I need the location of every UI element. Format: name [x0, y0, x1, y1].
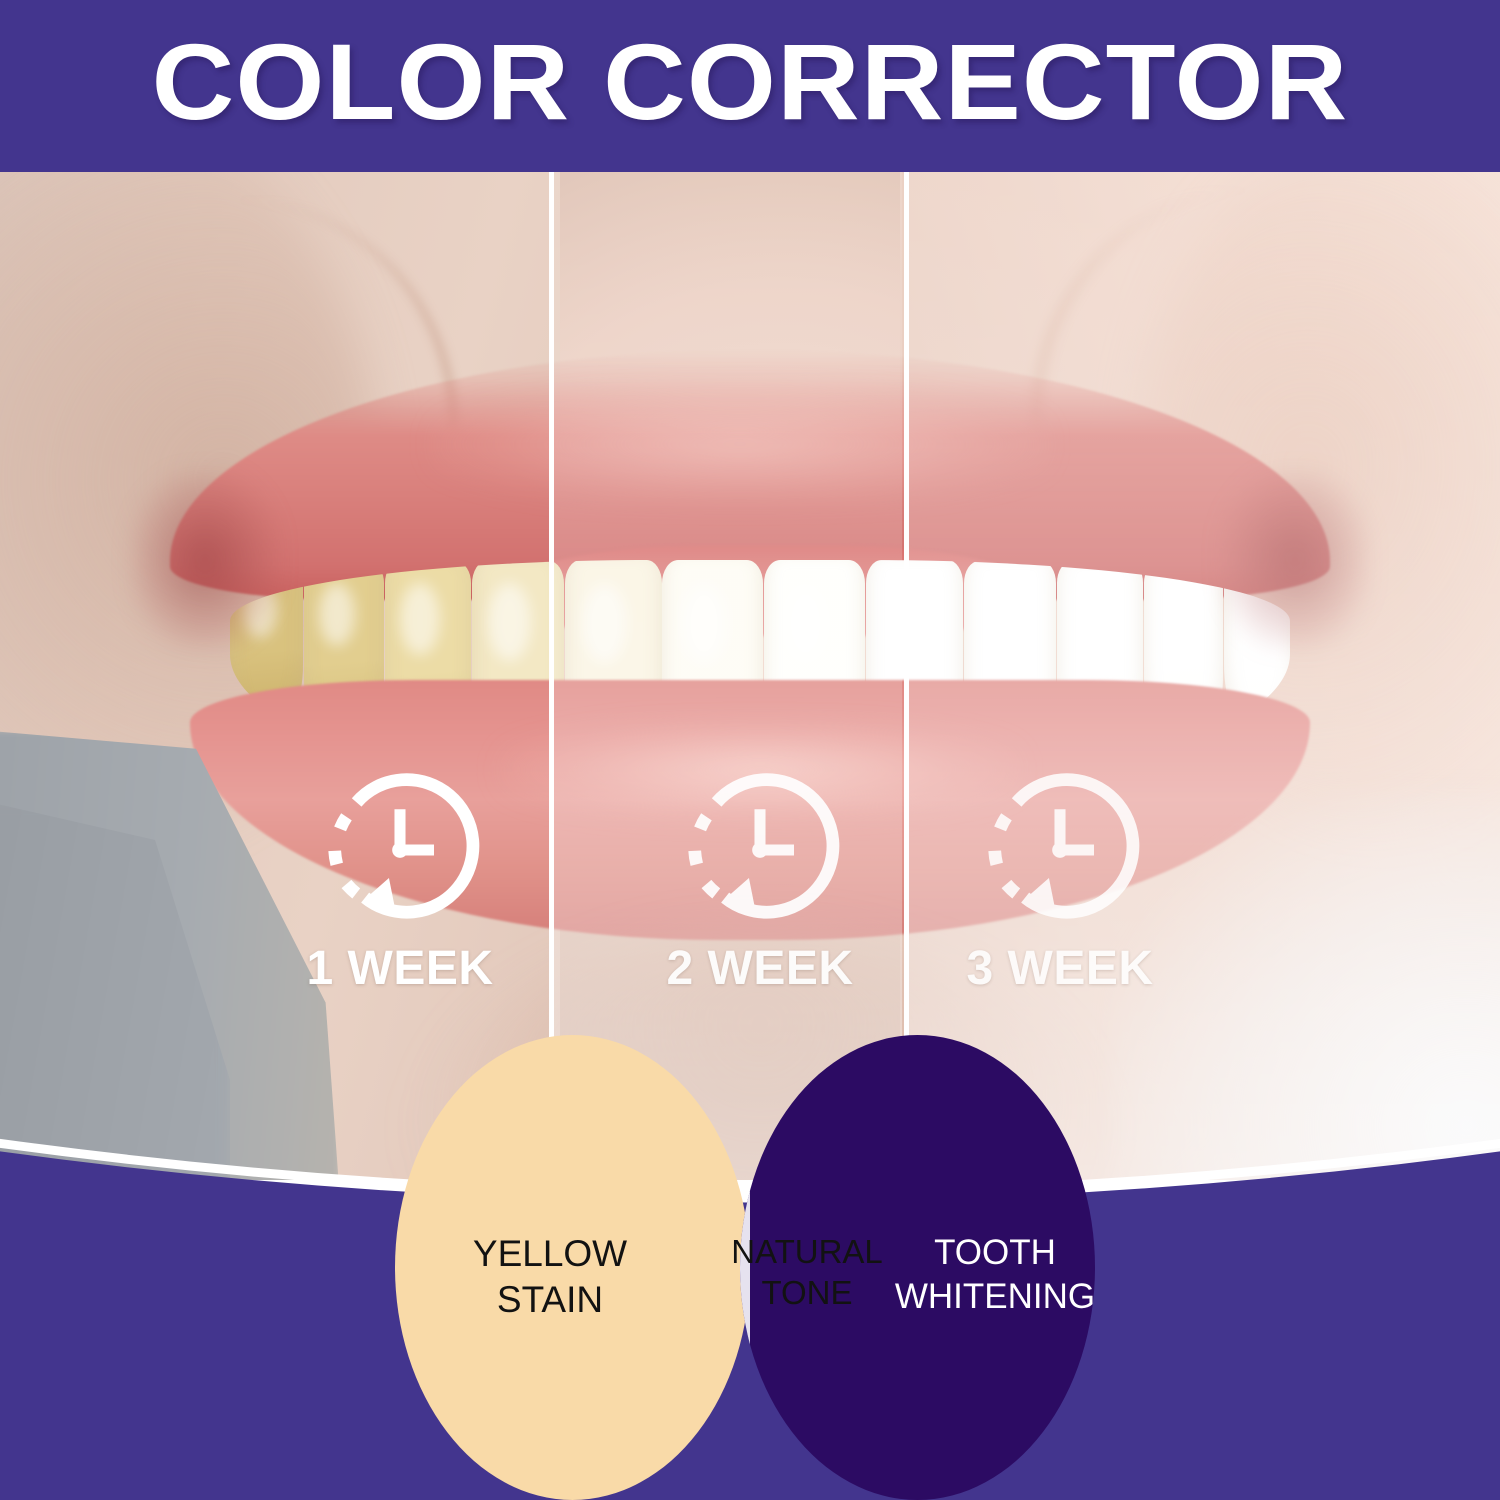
venn-diagram: YELLOW STAIN NATURAL TONE TOOTH WHITENIN…: [395, 1035, 1095, 1500]
timeline-step-3: 3 WEEK: [910, 765, 1210, 996]
clock-arrow-icon: [315, 765, 485, 935]
tooth-highlight: [1158, 583, 1195, 646]
mouth-corner-right: [1220, 470, 1370, 650]
timeline-step-1: 1 WEEK: [250, 765, 550, 996]
tooth-highlight: [1072, 583, 1112, 653]
infographic-canvas: 1 WEEK 2 WEEK: [0, 0, 1500, 1500]
mouth-corner-left: [130, 470, 280, 650]
tooth-highlight: [319, 583, 356, 647]
mouth-group: [170, 350, 1330, 770]
panel-divider-2: [904, 170, 909, 1180]
timeline-step-1-label: 1 WEEK: [250, 941, 550, 996]
timeline-group: 1 WEEK 2 WEEK: [0, 765, 1500, 1005]
header-banner: COLOR CORRECTOR: [0, 0, 1500, 172]
timeline-step-2: 2 WEEK: [610, 765, 910, 996]
tooth-highlight: [782, 584, 828, 664]
venn-label-yellow-stain: YELLOW STAIN: [405, 1231, 695, 1324]
timeline-step-2-label: 2 WEEK: [610, 941, 910, 996]
venn-label-tooth-whitening: TOOTH WHITENING: [865, 1231, 1125, 1319]
smile-comparison-photo: [0, 170, 1500, 1180]
upper-lip-highlight: [430, 384, 1050, 504]
tooth-highlight: [488, 583, 530, 660]
tooth-highlight: [582, 584, 626, 664]
clock-arrow-icon: [975, 765, 1145, 935]
tooth-highlight: [681, 584, 727, 664]
timeline-step-3-label: 3 WEEK: [910, 941, 1210, 996]
clock-arrow-icon: [675, 765, 845, 935]
page-title: COLOR CORRECTOR: [0, 26, 1500, 138]
panel-divider-1: [549, 170, 554, 1180]
tooth-highlight: [980, 583, 1022, 659]
tooth-highlight: [400, 583, 440, 655]
